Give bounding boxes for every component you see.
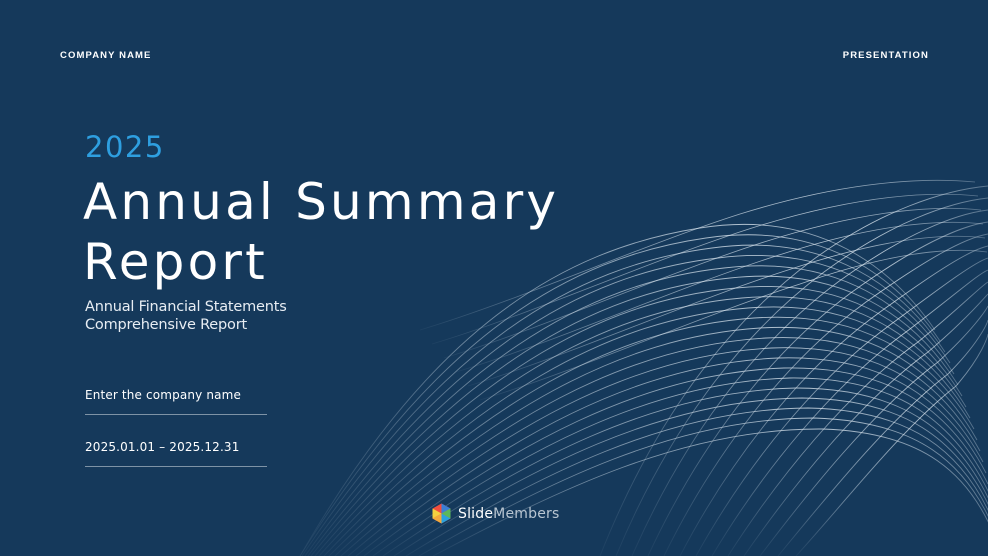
period-field[interactable]: 2025.01.01 – 2025.12.31 xyxy=(85,440,267,467)
company-name-field[interactable]: Enter the company name xyxy=(85,388,267,415)
hexagon-logo-icon xyxy=(432,503,451,524)
period-value: 2025.01.01 – 2025.12.31 xyxy=(85,440,267,466)
slide-header: COMPANY NAME PRESENTATION xyxy=(0,50,988,70)
page-title: Annual Summary Report xyxy=(83,172,623,292)
slidemembers-logo: SlideMembers xyxy=(432,503,559,524)
period-underline xyxy=(85,466,267,467)
year-label: 2025 xyxy=(85,130,165,164)
presentation-label: PRESENTATION xyxy=(843,50,929,61)
subtitle-line-2: Comprehensive Report xyxy=(85,316,287,334)
subtitle: Annual Financial Statements Comprehensiv… xyxy=(85,298,287,334)
subtitle-line-1: Annual Financial Statements xyxy=(85,298,287,316)
company-name-label: COMPANY NAME xyxy=(60,50,152,61)
presentation-slide: COMPANY NAME PRESENTATION 2025 Annual Su… xyxy=(0,0,988,556)
company-name-placeholder: Enter the company name xyxy=(85,388,267,414)
logo-wordmark: SlideMembers xyxy=(458,506,559,522)
logo-primary-text: Slide xyxy=(458,506,493,522)
logo-secondary-text: Members xyxy=(493,506,559,522)
company-name-underline xyxy=(85,414,267,415)
